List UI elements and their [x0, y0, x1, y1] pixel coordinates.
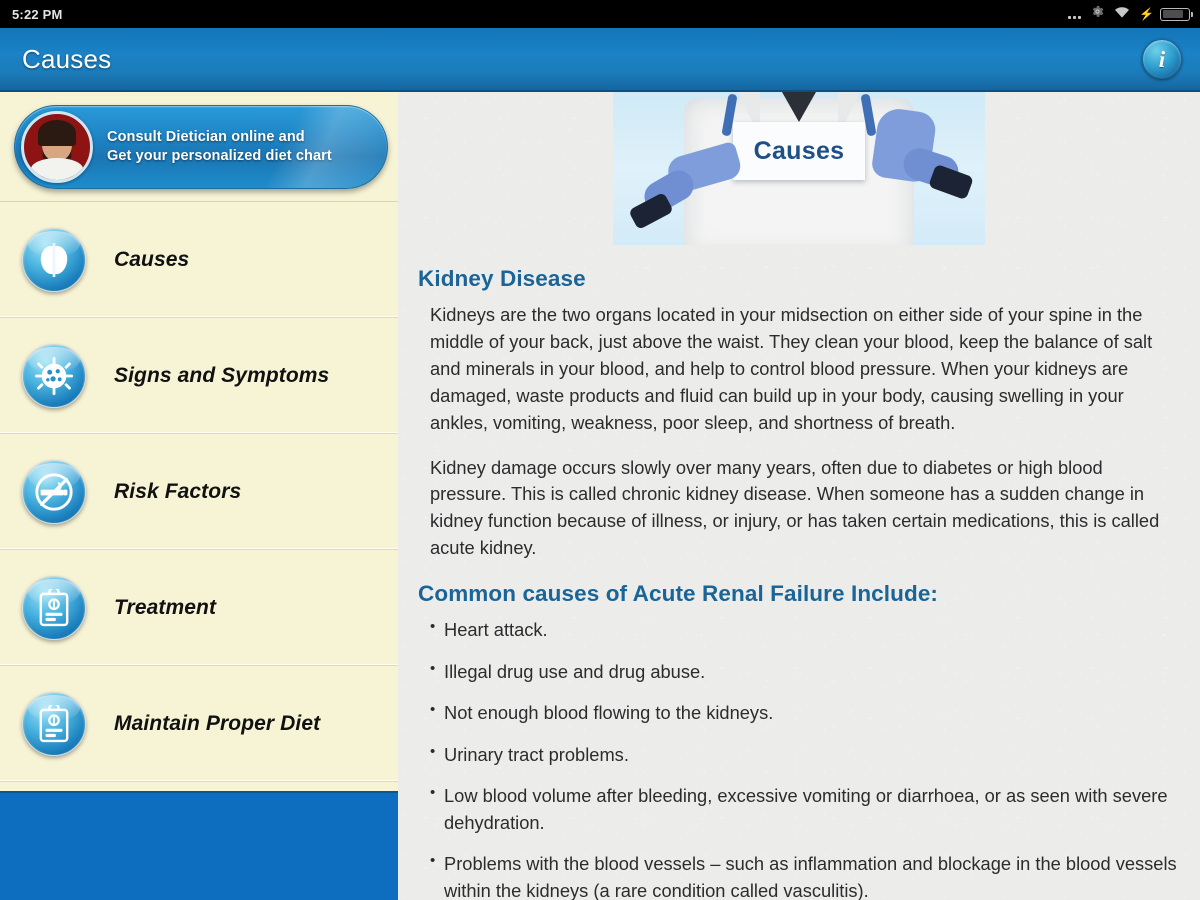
sidebar-item-label: Signs and Symptoms — [86, 364, 329, 388]
clipboard-icon — [22, 576, 86, 640]
list-item: Heart attack. — [430, 617, 1180, 644]
battery-icon — [1160, 8, 1190, 21]
sidebar-item-signs-and-symptoms[interactable]: Signs and Symptoms — [0, 318, 398, 434]
status-bar: 5:22 PM ⚡ — [0, 0, 1200, 28]
paragraph: Kidneys are the two organs located in yo… — [418, 302, 1180, 436]
sync-settings-icon — [1090, 4, 1105, 24]
list-item: Urinary tract problems. — [430, 742, 1180, 769]
kidney-icon — [22, 228, 86, 292]
info-icon[interactable]: i — [1142, 39, 1182, 79]
bullet-list-acute-renal-failure: Heart attack. Illegal drug use and drug … — [418, 617, 1180, 900]
promo-banner-wrap: Consult Dietician online and Get your pe… — [0, 92, 398, 201]
dietician-avatar — [21, 111, 93, 183]
sidebar-item-maintain-proper-diet[interactable]: Maintain Proper Diet — [0, 666, 398, 782]
clipboard-diet-icon — [22, 692, 86, 756]
article-body: Kidney Disease Kidneys are the two organ… — [398, 245, 1200, 900]
sidebar-item-label: Maintain Proper Diet — [86, 712, 320, 736]
info-icon-glyph: i — [1159, 48, 1165, 71]
status-bar-time: 5:22 PM — [12, 7, 63, 22]
wifi-icon — [1114, 5, 1130, 23]
section-heading-acute-renal-failure: Common causes of Acute Renal Failure Inc… — [418, 580, 1180, 608]
section-heading-kidney-disease: Kidney Disease — [418, 265, 1180, 293]
page-title: Causes — [22, 44, 111, 75]
promo-line-2: Get your personalized diet chart — [107, 147, 332, 166]
paragraph: Kidney damage occurs slowly over many ye… — [418, 455, 1180, 563]
more-dots-icon — [1068, 9, 1081, 19]
sidebar: Consult Dietician online and Get your pe… — [0, 92, 398, 900]
germ-icon — [22, 344, 86, 408]
promo-banner-text: Consult Dietician online and Get your pe… — [93, 128, 332, 167]
hero-card-text: Causes — [754, 137, 845, 166]
sidebar-item-label: Treatment — [86, 596, 216, 620]
list-item: Problems with the blood vessels – such a… — [430, 851, 1180, 900]
promo-line-1: Consult Dietician online and — [107, 128, 332, 147]
hero-image-doctor-causes: Causes — [613, 92, 985, 245]
sidebar-item-risk-factors[interactable]: Risk Factors — [0, 434, 398, 550]
sidebar-item-treatment[interactable]: Treatment — [0, 550, 398, 666]
main-content: Causes Kidney Disease Kidneys are the tw… — [398, 92, 1200, 900]
list-item: Not enough blood flowing to the kidneys. — [430, 700, 1180, 727]
no-smoking-icon — [22, 460, 86, 524]
charging-bolt-icon: ⚡ — [1139, 8, 1154, 20]
app-root: 5:22 PM ⚡ Causes i — [0, 0, 1200, 900]
hero-card: Causes — [733, 122, 865, 180]
sidebar-item-causes[interactable]: Causes — [0, 202, 398, 318]
list-item: Illegal drug use and drug abuse. — [430, 659, 1180, 686]
sidebar-menu: Causes — [0, 201, 398, 782]
title-bar: Causes i — [0, 28, 1200, 92]
status-bar-icons: ⚡ — [1068, 4, 1190, 24]
sidebar-item-label: Risk Factors — [86, 480, 241, 504]
promo-banner-consult-dietician[interactable]: Consult Dietician online and Get your pe… — [14, 105, 388, 189]
sidebar-footer-panel — [0, 791, 398, 900]
list-item: Low blood volume after bleeding, excessi… — [430, 783, 1180, 836]
sidebar-item-label: Causes — [86, 248, 189, 272]
